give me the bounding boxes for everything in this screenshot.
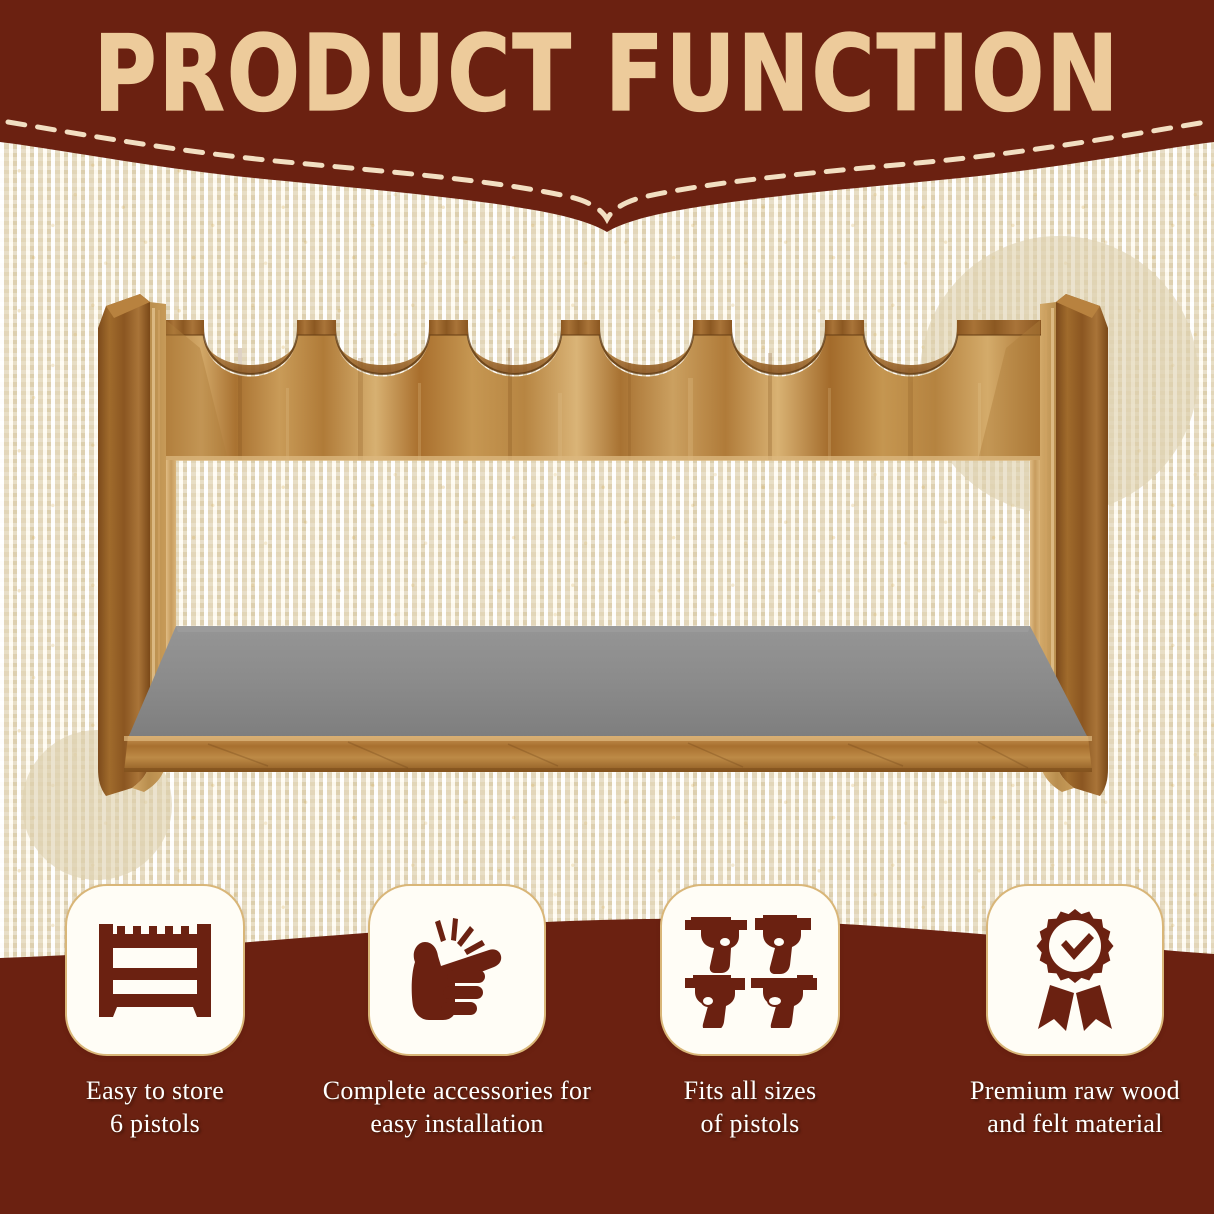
page-title: PRODUCT FUNCTION — [0, 22, 1214, 127]
rack-front-rail — [124, 736, 1092, 772]
feature-tile-3[interactable] — [660, 884, 840, 1056]
caption-line-2: of pistols — [700, 1109, 799, 1138]
feature-tile-1[interactable] — [65, 884, 245, 1056]
feature-caption-3: Fits all sizes of pistols — [630, 1074, 870, 1141]
award-ribbon-check-icon — [1016, 907, 1134, 1033]
feature-item-easy-to-store[interactable]: Easy to store 6 pistols — [30, 884, 280, 1141]
caption-line-1: Easy to store — [86, 1076, 224, 1105]
feature-caption-2: Complete accessories for easy installati… — [307, 1074, 607, 1141]
rack-felt-base — [128, 626, 1088, 738]
rack-back-panel-notched — [166, 320, 1041, 461]
feature-tile-2[interactable] — [368, 884, 546, 1056]
feature-caption-1: Easy to store 6 pistols — [30, 1074, 280, 1141]
feature-item-easy-installation[interactable]: Complete accessories for easy installati… — [332, 884, 582, 1141]
feature-item-fits-all-sizes[interactable]: Fits all sizes of pistols — [625, 884, 875, 1141]
pointing-hand-icon — [397, 914, 517, 1026]
caption-line-1: Premium raw wood — [970, 1076, 1180, 1105]
product-function-infographic: PRODUCT FUNCTION — [0, 0, 1214, 1214]
four-pistols-icon — [683, 912, 817, 1028]
header-banner: PRODUCT FUNCTION — [0, 0, 1214, 232]
gun-rack-icon — [91, 918, 219, 1022]
caption-line-1: Complete accessories for — [323, 1076, 592, 1105]
product-image-gun-rack — [88, 288, 1118, 808]
caption-line-1: Fits all sizes — [684, 1076, 817, 1105]
feature-tile-4[interactable] — [986, 884, 1164, 1056]
feature-item-premium-material[interactable]: Premium raw wood and felt material — [950, 884, 1200, 1141]
feature-caption-4: Premium raw wood and felt material — [925, 1074, 1214, 1141]
caption-line-2: 6 pistols — [110, 1109, 200, 1138]
caption-line-2: and felt material — [987, 1109, 1162, 1138]
caption-line-2: easy installation — [370, 1109, 543, 1138]
